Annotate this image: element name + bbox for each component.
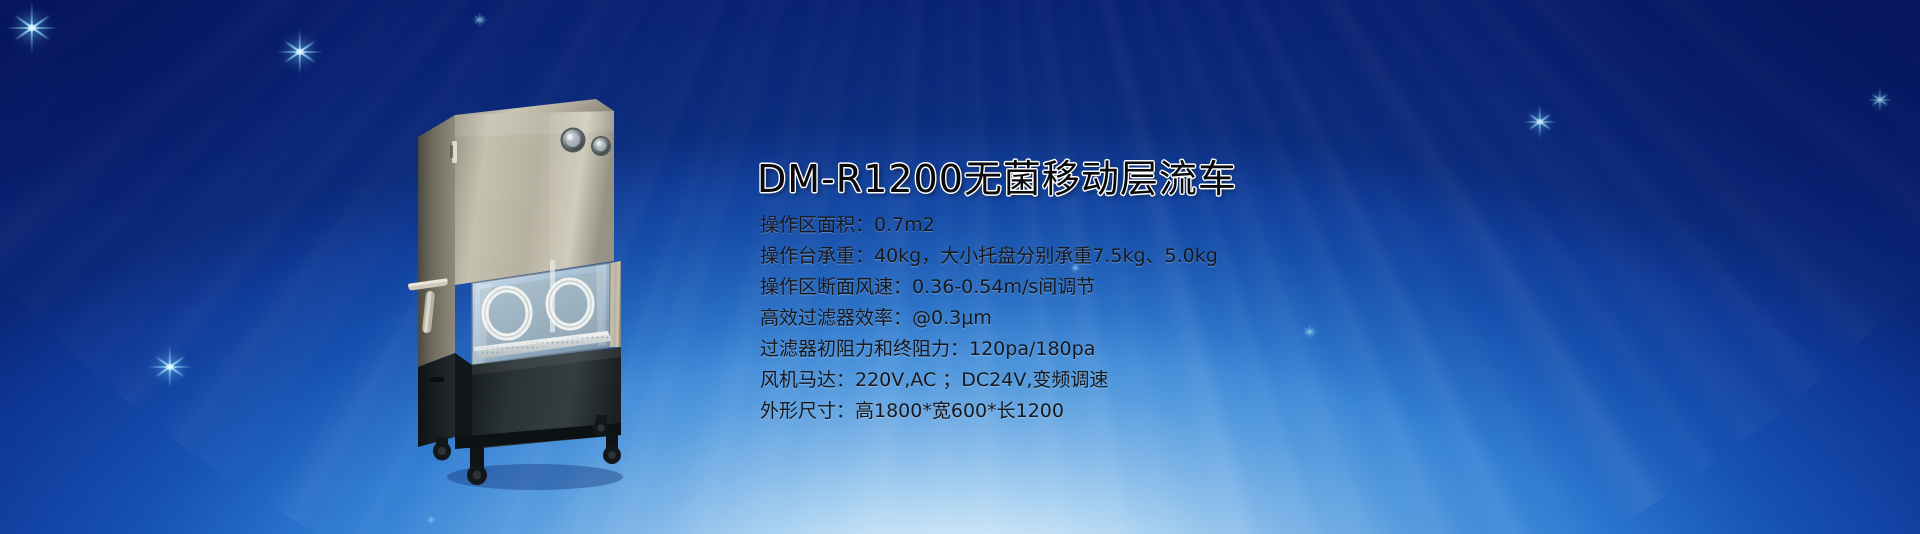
page-title: DM-R1200无菌移动层流车: [757, 148, 1237, 203]
spec-list: 操作区面积：0.7m2操作台承重：40kg，大小托盘分别承重7.5kg、5.0k…: [760, 210, 1620, 427]
spec-line: 过滤器初阻力和终阻力：120pa/180pa: [760, 334, 1620, 365]
spec-line: 高效过滤器效率：@0.3μm: [760, 303, 1620, 334]
product-image-laminar-flow-cart: [400, 85, 660, 505]
spec-line: 风机马达：220V,AC ；DC24V,变频调速: [760, 365, 1620, 396]
spec-line: 操作区断面风速：0.36-0.54m/s间调节: [760, 272, 1620, 303]
product-banner: DM-R1200无菌移动层流车 操作区面积：0.7m2操作台承重：40kg，大小…: [0, 0, 1920, 534]
spec-line: 操作台承重：40kg，大小托盘分别承重7.5kg、5.0kg: [760, 241, 1620, 272]
spec-line: 操作区面积：0.7m2: [760, 210, 1620, 241]
spec-line: 外形尺寸：高1800*宽600*长1200: [760, 396, 1620, 427]
